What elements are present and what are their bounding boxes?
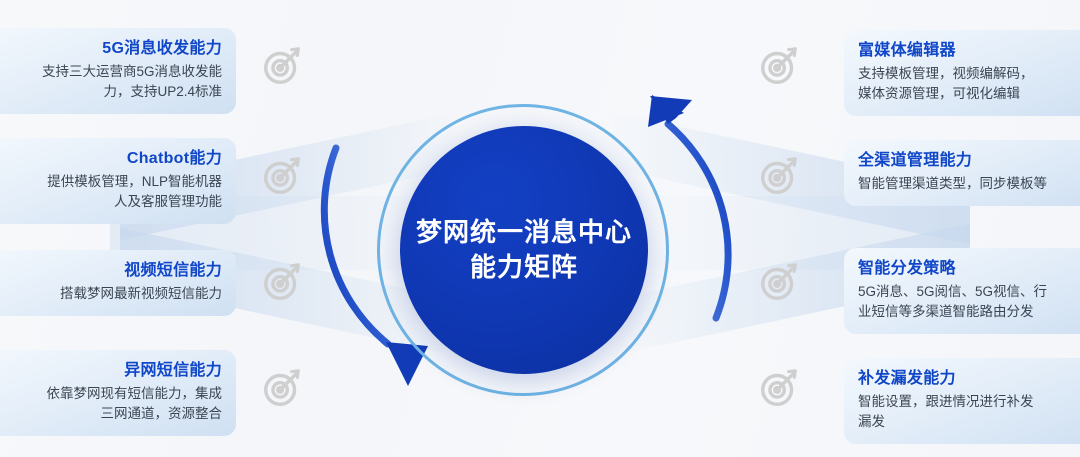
card-right-4-desc: 智能设置，跟进情况进行补发 漏发	[858, 392, 1080, 433]
target-icon-right-2	[757, 152, 803, 198]
target-icon-left-1	[260, 42, 306, 88]
target-icon-right-4	[757, 364, 803, 410]
card-left-3-title: 视频短信能力	[0, 260, 222, 282]
card-left-1-title: 5G消息收发能力	[0, 38, 222, 60]
target-icon-left-3	[260, 258, 306, 304]
card-left-3[interactable]: 视频短信能力 搭载梦网最新视频短信能力	[0, 250, 236, 316]
card-left-1-desc: 支持三大运营商5G消息收发能 力，支持UP2.4标准	[0, 62, 222, 103]
target-icon-left-4	[260, 364, 306, 410]
capability-matrix-infographic: 梦网统一消息中心 能力矩阵 5G消息收发能力 支持三大运营商5G消息收发能 力，…	[0, 0, 1080, 457]
card-right-3[interactable]: 智能分发策略 5G消息、5G阅信、5G视信、行 业短信等多渠道智能路由分发	[844, 248, 1080, 334]
target-icon-right-1	[757, 42, 803, 88]
target-icon-right-3	[757, 258, 803, 304]
card-left-2[interactable]: Chatbot能力 提供模板管理，NLP智能机器 人及客服管理功能	[0, 138, 236, 224]
card-left-4[interactable]: 异网短信能力 依靠梦网现有短信能力，集成 三网通道，资源整合	[0, 350, 236, 436]
card-left-2-title: Chatbot能力	[0, 148, 222, 170]
card-left-2-desc: 提供模板管理，NLP智能机器 人及客服管理功能	[0, 172, 222, 213]
card-right-2[interactable]: 全渠道管理能力 智能管理渠道类型，同步模板等	[844, 140, 1080, 206]
target-icon-left-2	[260, 152, 306, 198]
card-right-2-title: 全渠道管理能力	[858, 150, 1080, 172]
card-right-3-title: 智能分发策略	[858, 258, 1080, 280]
card-right-1[interactable]: 富媒体编辑器 支持模板管理，视频编解码， 媒体资源管理，可视化编辑	[844, 30, 1080, 116]
card-right-1-title: 富媒体编辑器	[858, 40, 1080, 62]
card-right-4-title: 补发漏发能力	[858, 368, 1080, 390]
card-right-1-desc: 支持模板管理，视频编解码， 媒体资源管理，可视化编辑	[858, 64, 1080, 105]
card-left-4-desc: 依靠梦网现有短信能力，集成 三网通道，资源整合	[0, 384, 222, 425]
card-left-4-title: 异网短信能力	[0, 360, 222, 382]
card-right-3-desc: 5G消息、5G阅信、5G视信、行 业短信等多渠道智能路由分发	[858, 282, 1080, 323]
card-right-2-desc: 智能管理渠道类型，同步模板等	[858, 174, 1080, 194]
center-title: 梦网统一消息中心 能力矩阵	[416, 215, 632, 285]
card-left-1[interactable]: 5G消息收发能力 支持三大运营商5G消息收发能 力，支持UP2.4标准	[0, 28, 236, 114]
card-left-3-desc: 搭载梦网最新视频短信能力	[0, 284, 222, 304]
center-core: 梦网统一消息中心 能力矩阵	[400, 126, 648, 374]
card-right-4[interactable]: 补发漏发能力 智能设置，跟进情况进行补发 漏发	[844, 358, 1080, 444]
